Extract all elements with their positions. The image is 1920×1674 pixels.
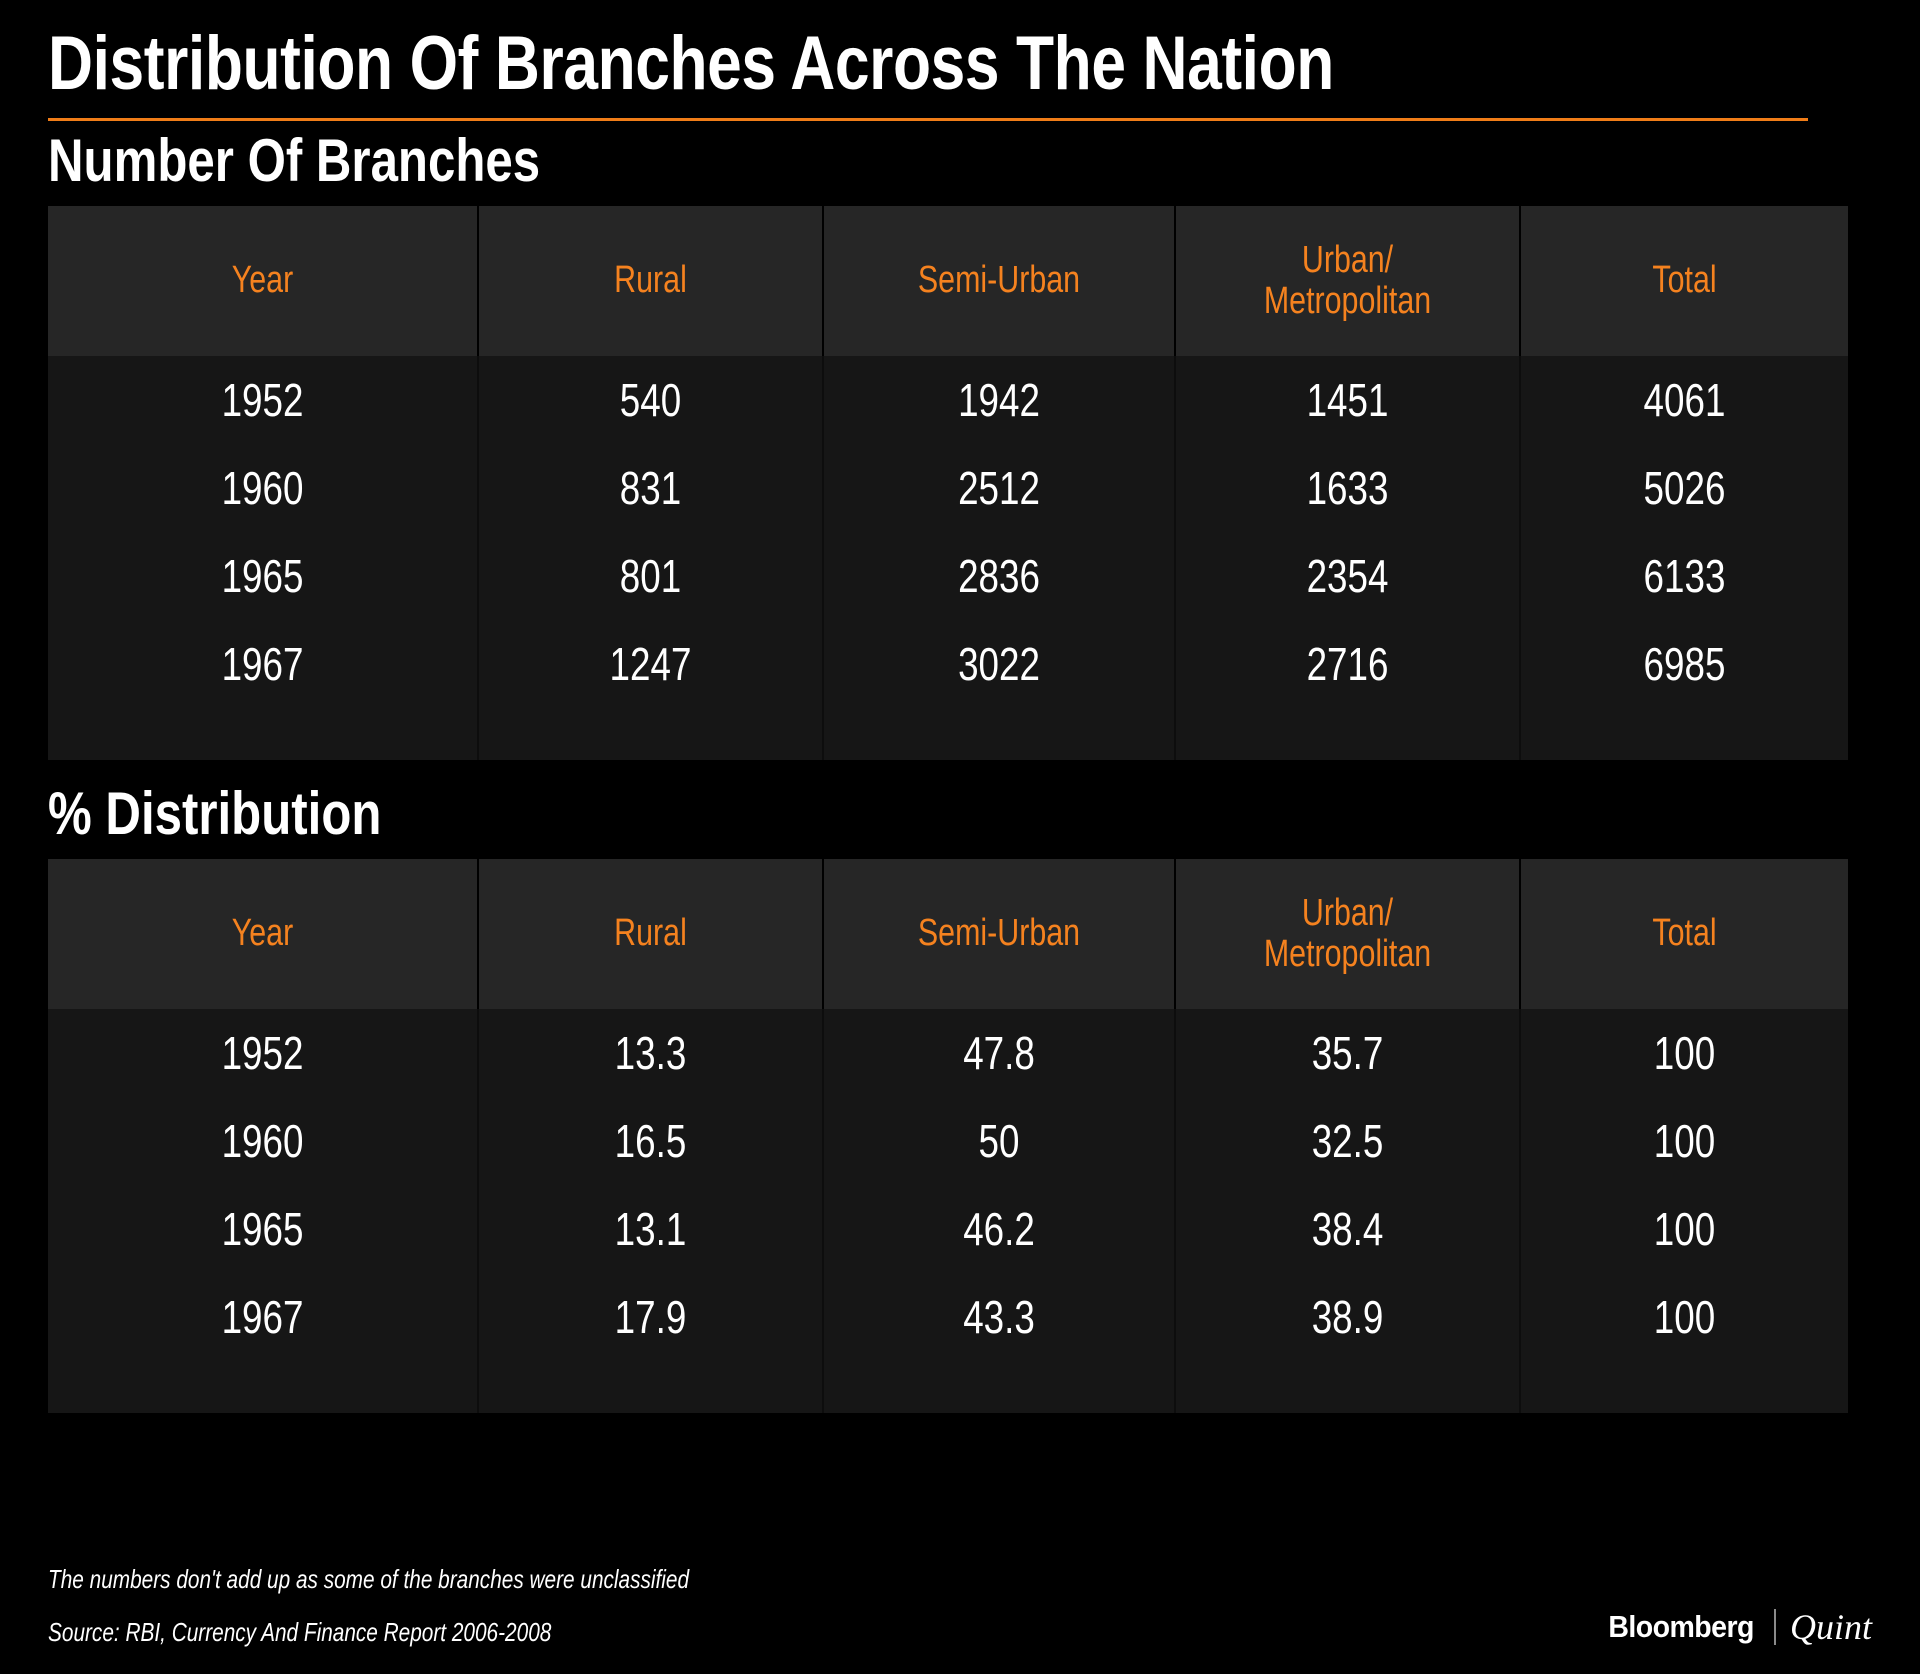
table-row: 1952 540 1942 1451 4061: [48, 356, 1848, 444]
col-header-urban-metropolitan: Urban/ Metropolitan: [1175, 206, 1520, 356]
table-header: Year Rural Semi-Urban Urban/ Metropolita…: [48, 206, 1848, 356]
section-title-branches: Number Of Branches: [48, 129, 1544, 192]
branches-count-table: Year Rural Semi-Urban Urban/ Metropolita…: [48, 206, 1848, 760]
cell-year: 1960: [48, 1097, 478, 1185]
cell-total: 4061: [1520, 356, 1848, 444]
cell-total: 100: [1520, 1009, 1848, 1097]
cell-urban: 2354: [1175, 532, 1520, 620]
cell-semi-urban: 47.8: [823, 1009, 1175, 1097]
cell-total: 5026: [1520, 444, 1848, 532]
cell-rural: 831: [478, 444, 823, 532]
cell-year: 1967: [48, 1273, 478, 1361]
table-row: 1967 17.9 43.3 38.9 100: [48, 1273, 1848, 1361]
cell-semi-urban: 1942: [823, 356, 1175, 444]
cell-semi-urban: 3022: [823, 620, 1175, 708]
table-row: 1965 13.1 46.2 38.4 100: [48, 1185, 1848, 1273]
table-header-row: Year Rural Semi-Urban Urban/ Metropolita…: [48, 206, 1848, 356]
cell-year: 1965: [48, 1185, 478, 1273]
cell-rural: 13.1: [478, 1185, 823, 1273]
cell-year: 1960: [48, 444, 478, 532]
cell-urban: 1451: [1175, 356, 1520, 444]
table-body: 1952 540 1942 1451 4061 1960 831 2512 16…: [48, 356, 1848, 760]
cell-total: 6133: [1520, 532, 1848, 620]
cell-semi-urban: 2512: [823, 444, 1175, 532]
table-row: 1960 831 2512 1633 5026: [48, 444, 1848, 532]
col-header-semi-urban: Semi-Urban: [823, 206, 1175, 356]
col-header-urban-metropolitan: Urban/ Metropolitan: [1175, 859, 1520, 1009]
table-bottom-padding: [48, 1361, 1848, 1413]
logo-separator: [1774, 1609, 1776, 1645]
section-title-distribution: % Distribution: [48, 782, 1544, 845]
cell-total: 100: [1520, 1097, 1848, 1185]
cell-total: 100: [1520, 1185, 1848, 1273]
cell-rural: 13.3: [478, 1009, 823, 1097]
title-divider: [48, 118, 1808, 121]
col-header-total: Total: [1520, 859, 1848, 1009]
table-row: 1965 801 2836 2354 6133: [48, 532, 1848, 620]
col-header-year: Year: [48, 206, 478, 356]
page-title: Distribution Of Branches Across The Nati…: [48, 0, 1544, 102]
cell-rural: 17.9: [478, 1273, 823, 1361]
col-header-rural: Rural: [478, 859, 823, 1009]
cell-semi-urban: 43.3: [823, 1273, 1175, 1361]
cell-urban: 2716: [1175, 620, 1520, 708]
table-row: 1967 1247 3022 2716 6985: [48, 620, 1848, 708]
cell-rural: 1247: [478, 620, 823, 708]
table-row: 1960 16.5 50 32.5 100: [48, 1097, 1848, 1185]
cell-semi-urban: 46.2: [823, 1185, 1175, 1273]
table-header: Year Rural Semi-Urban Urban/ Metropolita…: [48, 859, 1848, 1009]
cell-rural: 16.5: [478, 1097, 823, 1185]
cell-year: 1952: [48, 1009, 478, 1097]
cell-year: 1952: [48, 356, 478, 444]
footnote: The numbers don't add up as some of the …: [48, 1564, 1507, 1595]
col-header-total: Total: [1520, 206, 1848, 356]
cell-rural: 801: [478, 532, 823, 620]
col-header-rural: Rural: [478, 206, 823, 356]
cell-urban: 32.5: [1175, 1097, 1520, 1185]
percent-distribution-table: Year Rural Semi-Urban Urban/ Metropolita…: [48, 859, 1848, 1413]
logo-group: Bloomberg Quint: [1602, 1606, 1872, 1648]
cell-semi-urban: 50: [823, 1097, 1175, 1185]
cell-urban: 35.7: [1175, 1009, 1520, 1097]
table-header-row: Year Rural Semi-Urban Urban/ Metropolita…: [48, 859, 1848, 1009]
infographic-page: Distribution Of Branches Across The Nati…: [0, 0, 1920, 1674]
bloomberg-logo: Bloomberg: [1608, 1609, 1754, 1645]
cell-total: 100: [1520, 1273, 1848, 1361]
cell-year: 1965: [48, 532, 478, 620]
cell-total: 6985: [1520, 620, 1848, 708]
cell-urban: 38.4: [1175, 1185, 1520, 1273]
cell-year: 1967: [48, 620, 478, 708]
col-header-year: Year: [48, 859, 478, 1009]
table-row: 1952 13.3 47.8 35.7 100: [48, 1009, 1848, 1097]
table-bottom-padding: [48, 708, 1848, 760]
cell-semi-urban: 2836: [823, 532, 1175, 620]
source-note: Source: RBI, Currency And Finance Report…: [48, 1617, 1507, 1648]
quint-logo: Quint: [1790, 1606, 1872, 1648]
col-header-semi-urban: Semi-Urban: [823, 859, 1175, 1009]
cell-urban: 38.9: [1175, 1273, 1520, 1361]
table-body: 1952 13.3 47.8 35.7 100 1960 16.5 50 32.…: [48, 1009, 1848, 1413]
cell-urban: 1633: [1175, 444, 1520, 532]
footer: The numbers don't add up as some of the …: [48, 1564, 1872, 1648]
cell-rural: 540: [478, 356, 823, 444]
